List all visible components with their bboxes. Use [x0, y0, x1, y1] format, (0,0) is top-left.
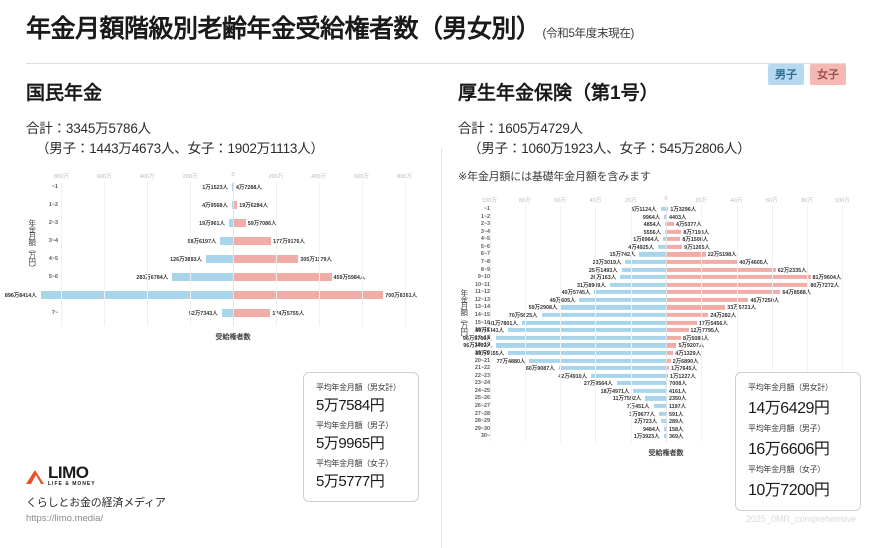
- bar-male: [172, 273, 233, 281]
- average-label: 平均年金月額（男子）: [748, 423, 848, 434]
- grid-line: [405, 182, 406, 326]
- x-tick-label: 60万: [554, 196, 566, 204]
- average-label: 平均年金月額（女子）: [748, 464, 848, 475]
- bar-value-male: 4万9568人: [202, 201, 228, 209]
- bar-value-male: 58万6197人: [188, 237, 217, 245]
- bar-value-female: 459万5984人: [334, 273, 366, 281]
- grid-line: [595, 206, 596, 442]
- bar-male: [508, 351, 666, 355]
- bar-value-male: 77万4880人: [497, 357, 526, 365]
- average-value: 10万7200円: [748, 476, 848, 500]
- bar-value-female: 22万5198人: [708, 250, 737, 258]
- average-item: 平均年金月額（女子） 10万7200円: [748, 464, 848, 500]
- bar-value-male: 283万6784人: [136, 273, 168, 281]
- x-tick-label: 200万: [183, 172, 198, 180]
- grid-line: [233, 182, 234, 326]
- panel-right-note: ※年金月額には基礎年金月額を含みます: [458, 168, 856, 184]
- bar-male: [522, 321, 666, 325]
- x-tick-label: 20万: [625, 196, 637, 204]
- limo-mountain-icon: [26, 468, 44, 484]
- bar-male: [206, 255, 233, 263]
- grid-line: [276, 182, 277, 326]
- infographic-page: 年金月額階級別老齢年金受給権者数（男女別） (令和5年度末現在) 男子 女子 国…: [0, 0, 870, 536]
- bar-female: [233, 219, 246, 227]
- bar-female: [233, 273, 332, 281]
- bar-female: [666, 305, 725, 309]
- bar-female: [233, 237, 271, 245]
- bar-male: [645, 396, 666, 400]
- average-item: 平均年金月額（男女計） 14万6429円: [748, 382, 848, 418]
- bar-female: [666, 230, 681, 234]
- bar-male: [633, 389, 666, 393]
- average-box-kosei: 平均年金月額（男女計） 14万6429円 平均年金月額（男子） 16万6606円…: [735, 372, 861, 511]
- bar-female: [233, 255, 298, 263]
- bar-value-female: 177万9176人: [273, 237, 305, 245]
- x-tick-label: 400万: [140, 172, 155, 180]
- title-row: 年金月額階級別老齢年金受給権者数（男女別） (令和5年度末現在): [26, 16, 846, 44]
- bar-value-female: 62万2335人: [778, 266, 807, 274]
- bar-value-male: 42万4910人: [558, 372, 587, 380]
- bar-male: [561, 305, 666, 309]
- title-note: (令和5年度末現在): [543, 25, 635, 44]
- page-title: 年金月額階級別老齢年金受給権者数（男女別）: [26, 16, 541, 44]
- average-label: 平均年金月額（男女計）: [748, 382, 848, 393]
- bar-male: [617, 381, 666, 385]
- bar-value-female: 4万7288人: [236, 183, 262, 191]
- bar-female: [666, 275, 811, 279]
- x-tick-label: 0: [664, 196, 667, 202]
- bar-male: [496, 336, 666, 340]
- bar-male: [659, 411, 666, 415]
- bar-female: [666, 351, 673, 355]
- bar-value-male: 896万8414人: [5, 291, 37, 299]
- bar-male: [610, 283, 666, 287]
- footer-tagline: くらしとお金の経済メディア: [26, 494, 166, 510]
- bar-male: [508, 328, 666, 332]
- average-value: 5万9965円: [316, 432, 406, 453]
- grid-line: [525, 206, 526, 442]
- chart-kokumin-plot: 800万600万400万200万0200万400万600万800万 ~11万15…: [40, 170, 426, 342]
- panel-right-total-line1: 合計：1605万4729人: [458, 121, 583, 136]
- bar-value-female: 700万8361人: [385, 291, 417, 299]
- chart-kosei-xaxis: 100万80万60万40万20万020万40万60万80万100万: [472, 194, 860, 206]
- average-item: 平均年金月額（女子） 5万5777円: [316, 458, 406, 491]
- x-tick-label: 100万: [482, 196, 497, 204]
- chart-kokumin: 年金月額（万円） 800万600万400万200万0200万400万600万80…: [26, 170, 430, 342]
- average-item: 平均年金月額（男子） 16万6606円: [748, 423, 848, 459]
- x-tick-label: 600万: [354, 172, 369, 180]
- x-tick-label: 400万: [311, 172, 326, 180]
- x-tick-label: 80万: [801, 196, 813, 204]
- average-label: 平均年金月額（男子）: [316, 420, 406, 431]
- panel-right-total-line2: （男子：1060万1923人、女子：545万2806人）: [458, 139, 856, 160]
- grid-line: [190, 182, 191, 326]
- grid-line: [362, 182, 363, 326]
- bar-female: [666, 336, 681, 340]
- bar-male: [559, 366, 666, 370]
- bar-value-male: 60万9087人: [526, 364, 555, 372]
- panel-left-total-line2: （男子：1443万4673人、女子：1902万1113人）: [26, 139, 430, 160]
- grid-line: [631, 206, 632, 442]
- bar-male: [622, 267, 666, 271]
- bar-value-female: 174万5755人: [272, 309, 304, 317]
- logo-name: LIMO: [48, 464, 96, 481]
- x-tick-label: 0: [231, 172, 234, 178]
- bar-value-male: 1万3923人: [634, 432, 660, 440]
- x-tick-label: 100万: [835, 196, 850, 204]
- chart-kokumin-xaxis: 800万600万400万200万0200万400万600万800万: [40, 170, 426, 182]
- x-tick-label: 800万: [397, 172, 412, 180]
- panel-left-total-line1: 合計：3345万5786人: [26, 121, 151, 136]
- logo-subtitle: LIFE & MONEY: [48, 482, 96, 487]
- average-box-kokumin: 平均年金月額（男女計） 5万7584円 平均年金月額（男子） 5万9965円 平…: [303, 372, 419, 502]
- x-tick-label: 600万: [97, 172, 112, 180]
- average-label: 平均年金月額（女子）: [316, 458, 406, 469]
- bar-male: [620, 275, 666, 279]
- bar-value-female: 19万6284人: [239, 201, 268, 209]
- x-tick-label: 40万: [731, 196, 743, 204]
- bar-value-male: 126万3883人: [170, 255, 202, 263]
- header: 年金月額階級別老齢年金受給権者数（男女別） (令和5年度末現在): [0, 0, 870, 52]
- bar-female: [666, 245, 682, 249]
- grid-line: [490, 206, 491, 442]
- bar-female: [666, 252, 706, 256]
- bar-value-female: 369人: [669, 432, 683, 440]
- bar-value-female: 9万1265人: [684, 243, 710, 251]
- average-label: 平均年金月額（男女計）: [316, 382, 406, 393]
- grid-line: [701, 206, 702, 442]
- bar-female: [666, 267, 776, 271]
- bar-male: [591, 374, 666, 378]
- panel-left-heading: 国民年金: [26, 78, 430, 105]
- average-value: 14万6429円: [748, 394, 848, 418]
- bar-female: [666, 290, 780, 294]
- bar-female: [666, 222, 674, 226]
- footer: LIMO LIFE & MONEY くらしとお金の経済メディア https://…: [26, 464, 166, 524]
- bar-female: [666, 343, 676, 347]
- x-tick-label: 200万: [268, 172, 283, 180]
- x-tick-label: 40万: [590, 196, 602, 204]
- x-tick-label: 60万: [766, 196, 778, 204]
- panel-right-heading: 厚生年金保険（第1号）: [458, 78, 856, 105]
- average-value: 5万7584円: [316, 394, 406, 415]
- bar-value-female: 40万4605人: [739, 258, 768, 266]
- average-item: 平均年金月額（男女計） 5万7584円: [316, 382, 406, 415]
- bar-male: [496, 343, 666, 347]
- chart-kokumin-xlabel: 受給権者数: [40, 332, 426, 342]
- bar-female: [666, 321, 697, 325]
- grid-line: [319, 182, 320, 326]
- bar-male: [41, 291, 233, 299]
- grid-line: [560, 206, 561, 442]
- grid-line: [147, 182, 148, 326]
- bar-female: [666, 237, 680, 241]
- watermark: 2025_0MR_comprehensive: [746, 514, 856, 524]
- bar-male: [654, 404, 666, 408]
- average-value: 16万6606円: [748, 435, 848, 459]
- panel-right-total: 合計：1605万4729人 （男子：1060万1923人、女子：545万2806…: [458, 119, 856, 161]
- x-tick-label: 800万: [54, 172, 69, 180]
- grid-line: [61, 182, 62, 326]
- bar-male: [222, 309, 233, 317]
- bar-male: [529, 358, 666, 362]
- grid-line: [104, 182, 105, 326]
- bar-value-male: 52万7343人: [189, 309, 218, 317]
- bar-value-female: 305万1179人: [300, 255, 331, 263]
- bar-female: [233, 309, 270, 317]
- bar-value-male: 1万1523人: [202, 183, 228, 191]
- panel-left-total: 合計：3345万5786人 （男子：1443万4673人、女子：1902万111…: [26, 119, 430, 161]
- bar-male: [579, 298, 666, 302]
- chart-kokumin-gridwrap: ~11万1523人4万7288人1~24万9568人19万6284人2~319万…: [40, 182, 426, 326]
- grid-line: [666, 206, 667, 442]
- x-tick-label: 80万: [519, 196, 531, 204]
- average-value: 5万5777円: [316, 470, 406, 491]
- bar-value-male: 19万961人: [199, 219, 225, 227]
- bar-male: [639, 252, 666, 256]
- bar-male: [658, 245, 666, 249]
- bar-female: [666, 328, 689, 332]
- x-tick-label: 20万: [695, 196, 707, 204]
- bar-male: [220, 237, 233, 245]
- logo: LIMO LIFE & MONEY: [26, 464, 166, 487]
- bar-value-female: 80万7272人: [810, 281, 839, 289]
- bar-value-female: 59万7086人: [248, 219, 277, 227]
- footer-url[interactable]: https://limo.media/: [26, 513, 166, 524]
- average-item: 平均年金月額（男子） 5万9965円: [316, 420, 406, 453]
